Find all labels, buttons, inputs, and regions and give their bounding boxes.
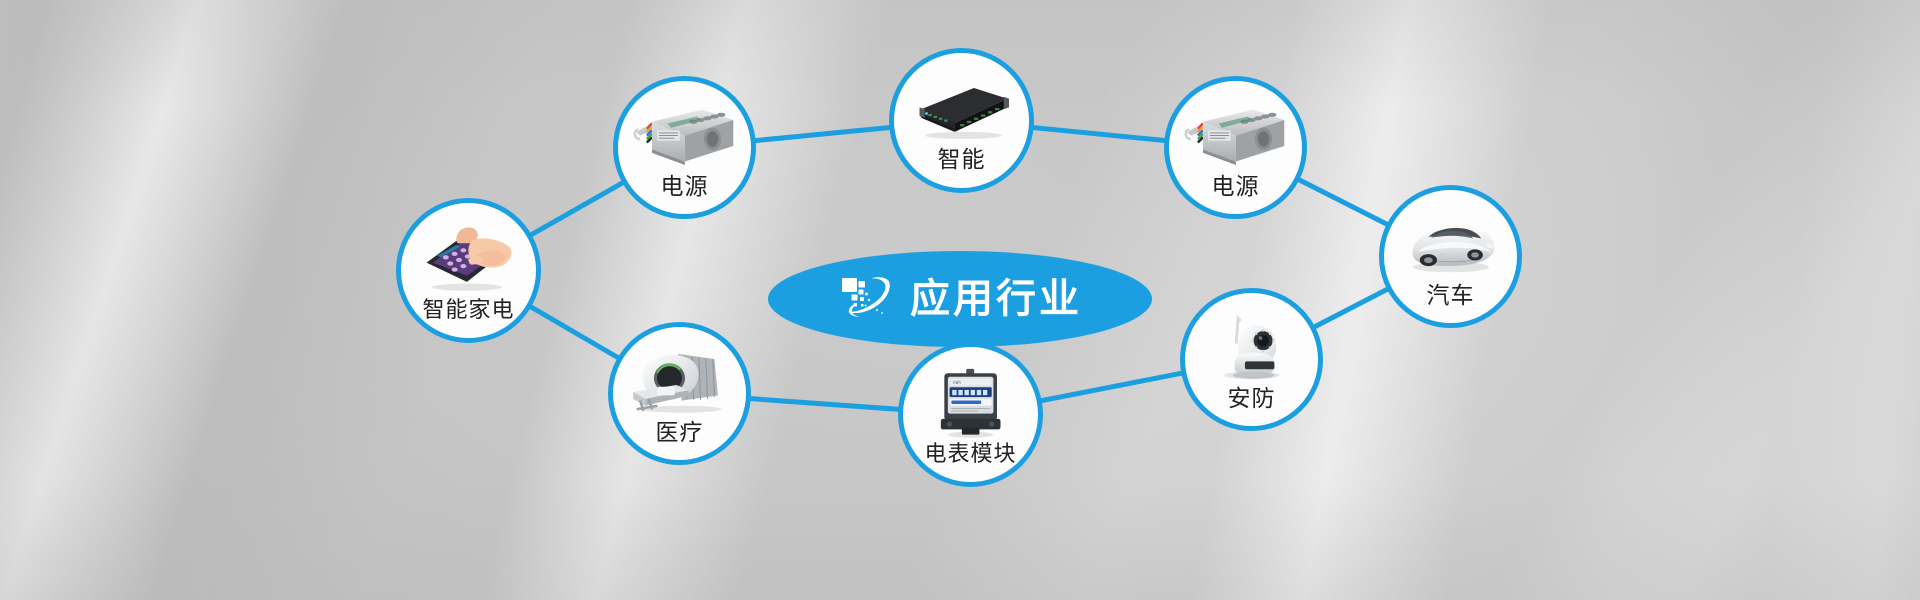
link-automotive-to-security <box>1312 288 1389 328</box>
svg-text:kWh: kWh <box>953 381 961 387</box>
link-power-right-to-automotive <box>1297 178 1390 225</box>
link-smart-to-power-right <box>1031 127 1168 140</box>
node-meter[interactable]: kWh 电表模块 <box>898 342 1043 487</box>
ct-scanner-icon <box>628 347 732 416</box>
link-smart-home-to-power-left <box>529 181 625 236</box>
node-smart-home[interactable]: 智能家电 <box>396 198 541 343</box>
power-supply-icon <box>1184 101 1288 170</box>
link-meter-to-medical <box>748 398 901 409</box>
application-industry-banner: 应用行业 <box>0 0 1920 600</box>
node-label-security: 安防 <box>1228 387 1276 410</box>
node-power-right[interactable]: 电源 <box>1164 76 1307 219</box>
node-automotive[interactable]: 汽车 <box>1379 185 1522 328</box>
node-security[interactable]: 安防 <box>1180 288 1323 431</box>
node-label-smart-home: 智能家电 <box>422 299 514 321</box>
center-badge-title: 应用行业 <box>910 279 1082 319</box>
node-label-automotive: 汽车 <box>1427 284 1475 307</box>
rack-server-icon <box>909 74 1014 144</box>
node-medical[interactable]: 医疗 <box>608 322 751 465</box>
link-medical-to-smart-home <box>529 306 621 360</box>
link-power-left-to-smart <box>753 127 893 141</box>
sports-car-icon <box>1399 210 1503 279</box>
center-badge: 应用行业 <box>768 251 1152 347</box>
node-label-smart: 智能 <box>938 148 986 171</box>
tablet-touch-icon <box>416 224 521 294</box>
node-label-power-right: 电源 <box>1212 175 1260 198</box>
electric-meter-icon: kWh <box>918 368 1023 438</box>
mosaic-swoosh-logo-icon <box>838 274 896 324</box>
link-security-to-meter <box>1039 373 1185 401</box>
node-smart[interactable]: 智能 <box>889 48 1034 193</box>
power-supply-icon <box>633 101 737 170</box>
node-power-left[interactable]: 电源 <box>613 76 756 219</box>
node-label-medical: 医疗 <box>656 421 704 444</box>
node-label-power-left: 电源 <box>661 175 709 198</box>
ip-camera-icon <box>1200 313 1304 382</box>
node-label-meter: 电表模块 <box>924 443 1016 465</box>
